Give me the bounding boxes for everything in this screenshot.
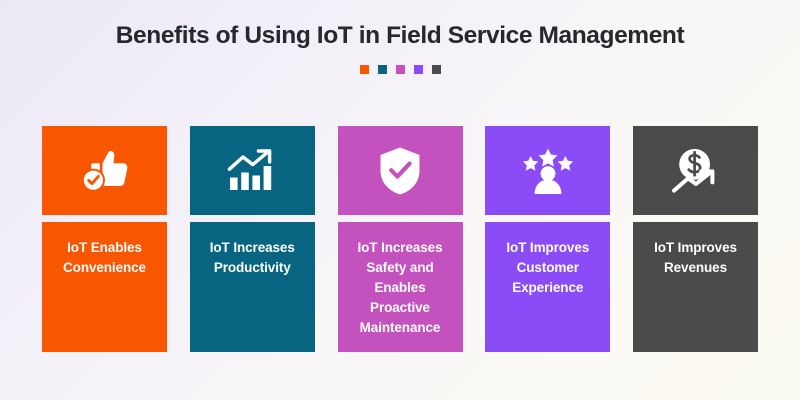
card-label-block: IoT Increases Safety and Enables Proacti… xyxy=(338,222,463,352)
card-label-block: IoT Enables Convenience xyxy=(42,222,167,352)
benefit-card-safety[interactable]: IoT Increases Safety and Enables Proacti… xyxy=(338,126,463,352)
card-label: IoT Improves Customer Experience xyxy=(485,238,610,298)
thumbs-up-check-icon xyxy=(78,147,132,195)
card-label-block: IoT Increases Productivity xyxy=(190,222,315,352)
benefit-card-customer-experience[interactable]: IoT Improves Customer Experience xyxy=(485,126,610,352)
person-three-stars-icon xyxy=(520,147,576,195)
card-icon-block xyxy=(633,126,758,215)
benefit-cards: IoT Enables Convenience IoT In xyxy=(42,126,758,352)
page-title: Benefits of Using IoT in Field Service M… xyxy=(0,0,800,50)
card-icon-block xyxy=(338,126,463,215)
dollar-growth-arrow-icon xyxy=(669,147,723,195)
card-icon-block xyxy=(42,126,167,215)
divider-dot xyxy=(432,65,441,74)
shield-check-icon xyxy=(377,145,423,197)
card-label: IoT Improves Revenues xyxy=(633,238,758,278)
card-label-block: IoT Improves Customer Experience xyxy=(485,222,610,352)
benefit-card-revenues[interactable]: IoT Improves Revenues xyxy=(633,126,758,352)
card-icon-block xyxy=(485,126,610,215)
bar-chart-growth-arrow-icon xyxy=(226,147,278,195)
divider-dot xyxy=(396,65,405,74)
infographic-root: Benefits of Using IoT in Field Service M… xyxy=(0,0,800,400)
divider-dot xyxy=(414,65,423,74)
benefit-card-convenience[interactable]: IoT Enables Convenience xyxy=(42,126,167,352)
divider-dot xyxy=(378,65,387,74)
card-label: IoT Enables Convenience xyxy=(42,238,167,278)
divider-dot xyxy=(360,65,369,74)
infographic-header: Benefits of Using IoT in Field Service M… xyxy=(0,0,800,74)
benefit-card-productivity[interactable]: IoT Increases Productivity xyxy=(190,126,315,352)
card-label: IoT Increases Productivity xyxy=(190,238,315,278)
card-label-block: IoT Improves Revenues xyxy=(633,222,758,352)
card-label: IoT Increases Safety and Enables Proacti… xyxy=(338,238,463,338)
divider-dots xyxy=(0,65,800,74)
card-icon-block xyxy=(190,126,315,215)
